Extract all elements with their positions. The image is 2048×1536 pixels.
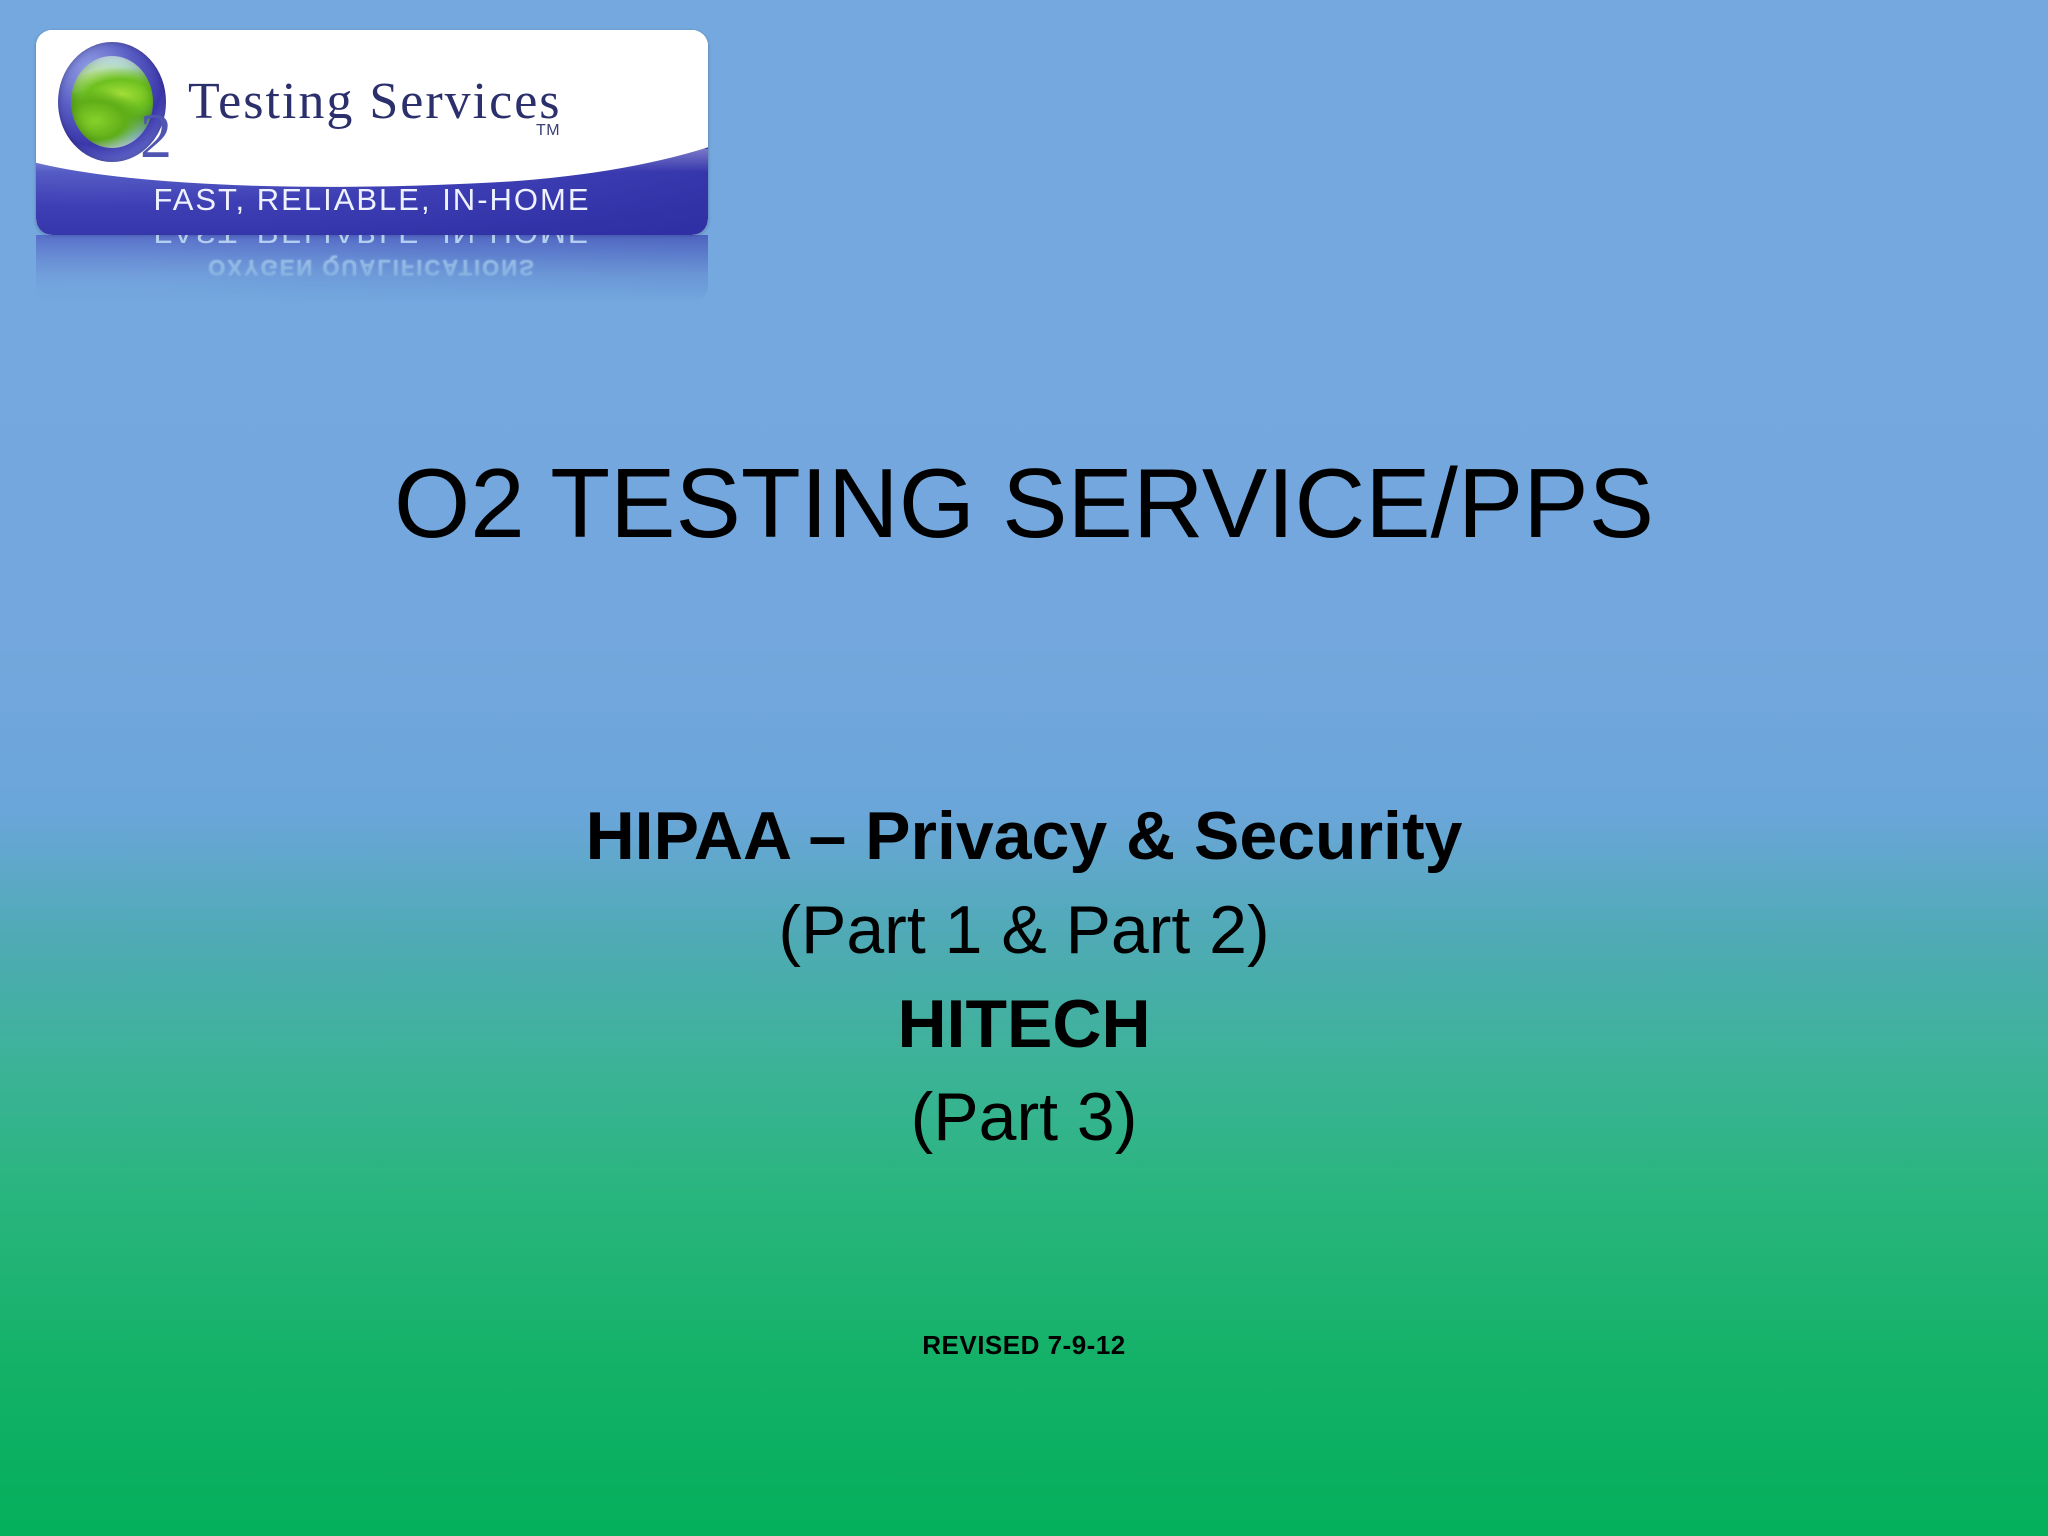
- subtitle-line-1: HIPAA – Privacy & Security: [0, 790, 2048, 884]
- company-logo: OXYGEN QUALIFICATIONS FAST, RELIABLE, IN…: [36, 30, 708, 302]
- logo-reflection-banner: OXYGEN QUALIFICATIONS FAST, RELIABLE, IN…: [36, 235, 708, 302]
- slide-subtitle-block: HIPAA – Privacy & Security (Part 1 & Par…: [0, 790, 2048, 1165]
- trademark-symbol: TM: [536, 122, 560, 140]
- logo-reflection-tagline-primary: OXYGEN QUALIFICATIONS: [36, 254, 708, 280]
- logo-reflection-tagline-secondary: FAST, RELIABLE, IN-HOME: [36, 235, 708, 250]
- slide-title: O2 TESTING SERVICE/PPS: [0, 452, 2048, 555]
- presentation-slide: OXYGEN QUALIFICATIONS FAST, RELIABLE, IN…: [0, 0, 2048, 1536]
- logo-card: OXYGEN QUALIFICATIONS FAST, RELIABLE, IN…: [36, 30, 708, 235]
- o2-subscript: 2: [140, 104, 172, 168]
- revision-note: REVISED 7-9-12: [0, 1330, 2048, 1361]
- o2-globe-icon: 2: [54, 42, 194, 190]
- subtitle-line-2: (Part 1 & Part 2): [0, 884, 2048, 978]
- logo-reflection: OXYGEN QUALIFICATIONS FAST, RELIABLE, IN…: [36, 235, 708, 302]
- logo-wordmark: Testing Services: [188, 72, 562, 131]
- subtitle-line-4: (Part 3): [0, 1071, 2048, 1165]
- subtitle-line-3: HITECH: [0, 978, 2048, 1072]
